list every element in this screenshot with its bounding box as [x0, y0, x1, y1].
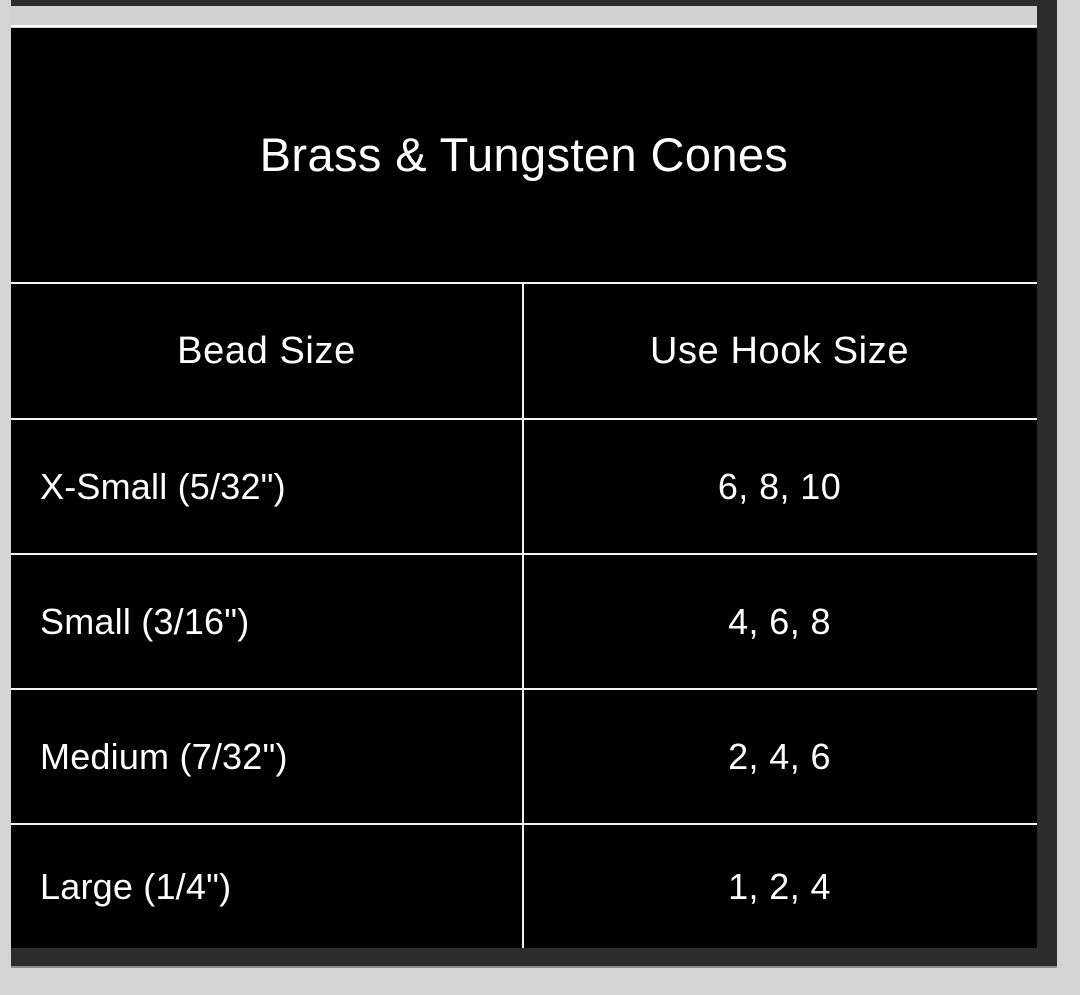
column-header-bead-size: Bead Size	[11, 284, 522, 418]
cell-use-hook-size: 1, 2, 4	[522, 825, 1037, 948]
table-row: Large (1/4") 1, 2, 4	[11, 825, 1037, 948]
slide-title-block: Brass & Tungsten Cones	[11, 28, 1037, 282]
cell-bead-size: Large (1/4")	[11, 825, 522, 948]
table-row: Small (3/16") 4, 6, 8	[11, 555, 1037, 688]
cell-bead-size: Medium (7/32")	[11, 690, 522, 823]
cell-use-hook-size: 2, 4, 6	[522, 690, 1037, 823]
document-bottom-hairline	[11, 966, 1057, 968]
table-row: Medium (7/32") 2, 4, 6	[11, 690, 1037, 823]
table-row: X-Small (5/32") 6, 8, 10	[11, 420, 1037, 553]
document-viewport: Brass & Tungsten Cones Bead Size Use Hoo…	[0, 0, 1080, 995]
document-bottom-gutter	[11, 948, 1037, 968]
column-header-use-hook-size: Use Hook Size	[522, 284, 1037, 418]
cell-use-hook-size: 4, 6, 8	[522, 555, 1037, 688]
document-right-gutter	[1037, 0, 1057, 968]
cell-bead-size: Small (3/16")	[11, 555, 522, 688]
cell-bead-size: X-Small (5/32")	[11, 420, 522, 553]
table-header-row: Bead Size Use Hook Size	[11, 284, 1037, 418]
page-title: Brass & Tungsten Cones	[260, 129, 789, 181]
size-chart-slide: Brass & Tungsten Cones Bead Size Use Hoo…	[11, 28, 1037, 948]
cell-use-hook-size: 6, 8, 10	[522, 420, 1037, 553]
window-toolbar-band	[11, 6, 1037, 27]
